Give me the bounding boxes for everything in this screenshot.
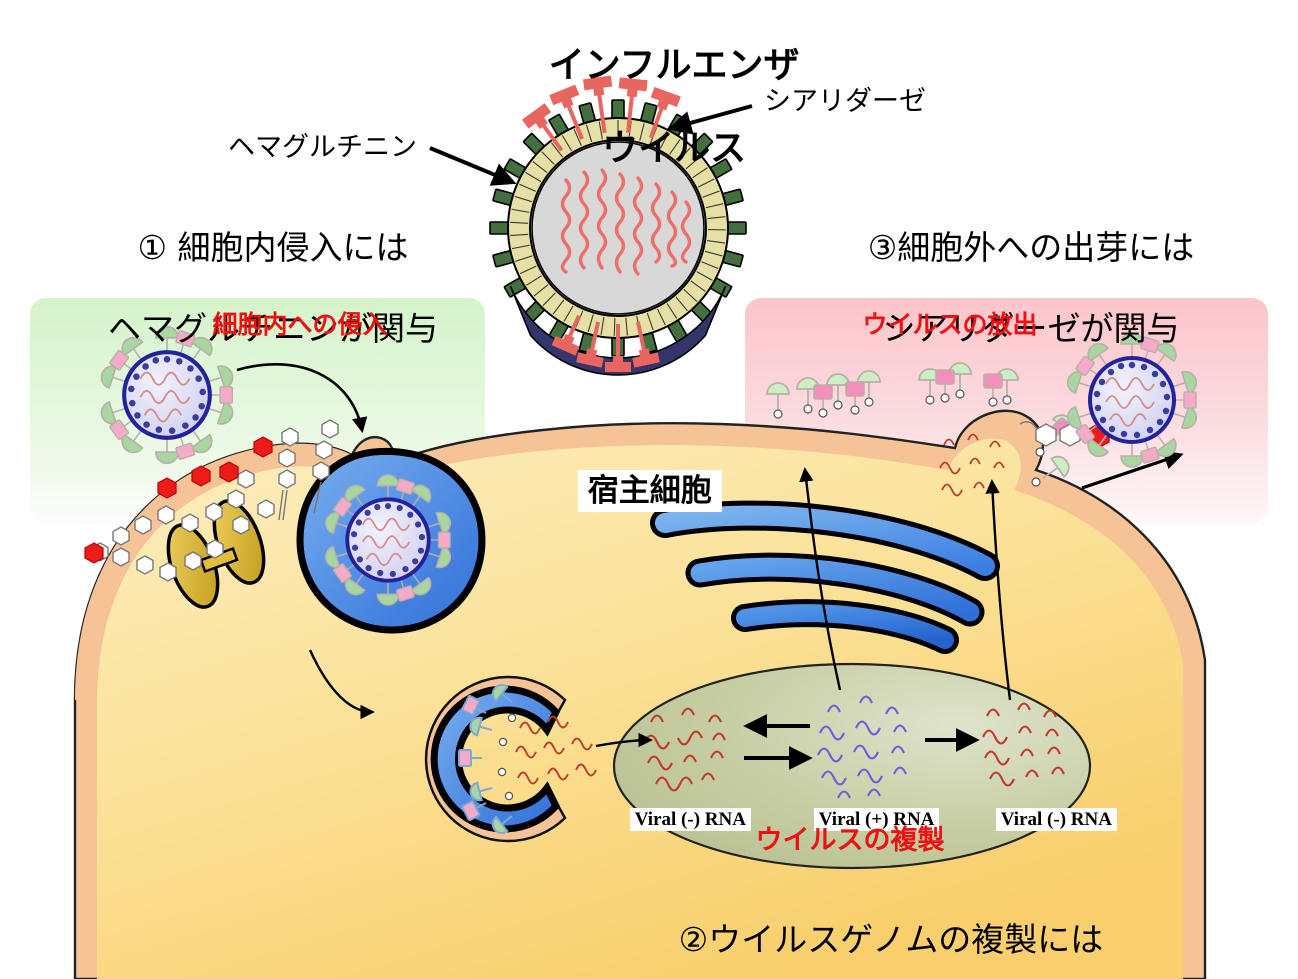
label-hemagglutinin: ヘマグルチニン [228, 132, 417, 164]
nucleus-replication-heading: ウイルスの複製 [700, 818, 1000, 857]
title-line2: ウイルス [602, 128, 746, 169]
step-entry-caption: ① 細胞内侵入には ヘマグルチニンが関与 [22, 188, 482, 389]
label-sialidase: シアリダーゼ [764, 86, 926, 118]
step-release-caption: ③細胞外への出芽には シアリダーゼが関与 [790, 188, 1230, 389]
step-entry-caption-line1: ① 細胞内侵入には [137, 228, 408, 267]
step-replication-caption: ②ウイルスゲノムの複製には RNAポリメラーゼが関与 [560, 880, 1180, 979]
step-replication-caption-line1: ②ウイルスゲノムの複製には [679, 920, 1104, 959]
step-release-caption-line1: ③細胞外への出芽には [868, 228, 1195, 267]
host-cell-label: 宿主細胞 [560, 447, 722, 528]
entry-panel-heading: 細胞内への侵入 [150, 305, 450, 341]
page-title: インフルエンザ ウイルス [0, 4, 1298, 211]
title-line1: インフルエンザ [549, 45, 800, 86]
release-panel-heading: ウイルスの放出 [810, 305, 1090, 341]
influenza-lifecycle-diagram: インフルエンザ ウイルス ヘマグルチニン シアリダーゼ ① 細胞内侵入には ヘマ… [0, 0, 1298, 979]
